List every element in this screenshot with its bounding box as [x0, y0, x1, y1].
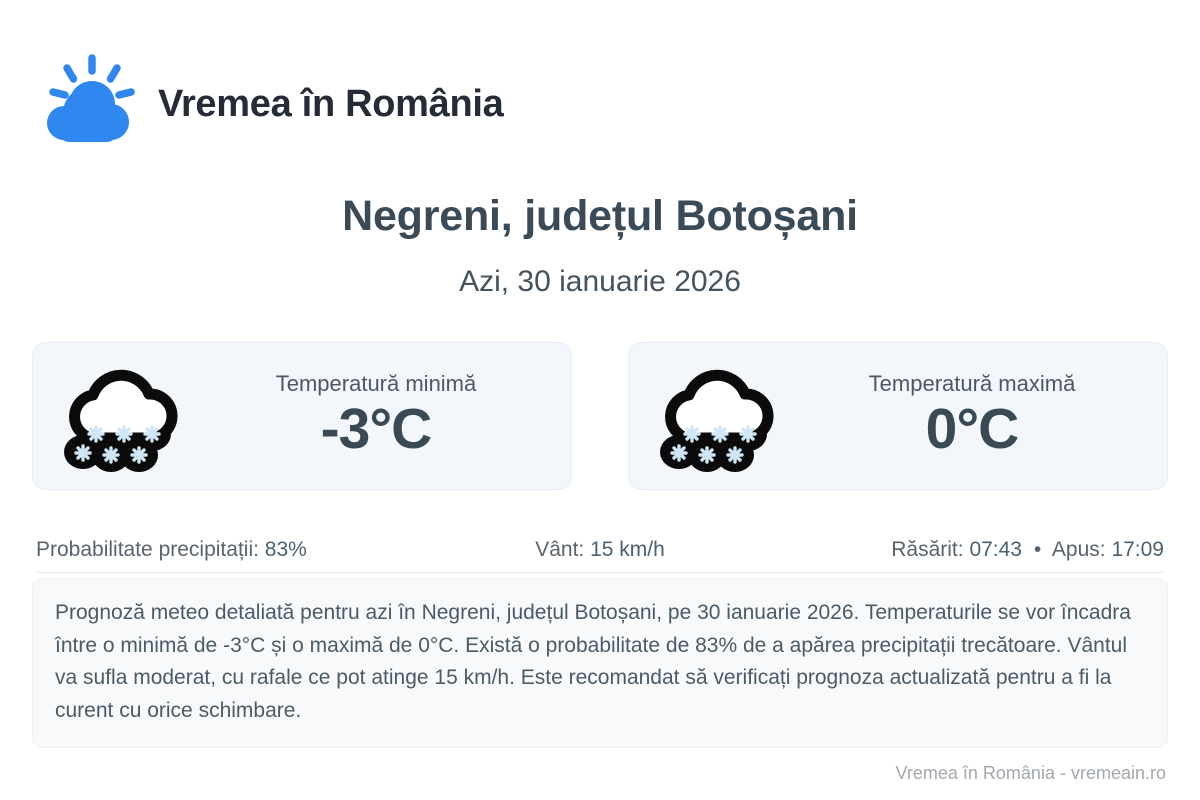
max-temperature-value: 0°C	[926, 399, 1019, 461]
sunrise-label: Răsărit:	[891, 538, 963, 561]
weather-page: Vremea în România Negreni, județul Botoș…	[0, 0, 1200, 800]
precipitation-label: Probabilitate precipitații:	[36, 538, 259, 561]
sun-cloud-icon	[36, 52, 140, 156]
wind-info: Vânt: 15 km/h	[412, 538, 788, 562]
max-temperature-body: Temperatură maximă 0°C	[795, 371, 1149, 461]
min-temperature-card: Temperatură minimă -3°C	[32, 342, 572, 490]
page-title: Negreni, județul Botoșani	[0, 192, 1200, 241]
sun-separator: •	[1028, 538, 1047, 561]
min-temperature-body: Temperatură minimă -3°C	[199, 371, 553, 461]
sunset-label: Apus:	[1052, 538, 1106, 561]
sunrise-value: 07:43	[969, 538, 1022, 561]
sunset-value: 17:09	[1111, 538, 1164, 561]
max-temperature-card: Temperatură maximă 0°C	[628, 342, 1168, 490]
precipitation-info: Probabilitate precipitații: 83%	[36, 538, 412, 562]
min-temperature-value: -3°C	[321, 399, 432, 461]
brand-name: Vremea în România	[158, 83, 504, 126]
weather-info-row: Probabilitate precipitații: 83% Vânt: 15…	[36, 538, 1164, 562]
precipitation-value: 83%	[265, 538, 307, 561]
snow-cloud-icon	[59, 360, 183, 472]
min-temperature-label: Temperatură minimă	[276, 371, 477, 397]
site-header: Vremea în România	[36, 52, 504, 156]
wind-value: 15 km/h	[590, 538, 665, 561]
temperature-cards: Temperatură minimă -3°C	[32, 342, 1168, 490]
section-divider	[36, 572, 1164, 573]
sun-info: Răsărit: 07:43 • Apus: 17:09	[788, 538, 1164, 562]
page-subtitle: Azi, 30 ianuarie 2026	[0, 265, 1200, 299]
footer-credit: Vremea în România - vremeain.ro	[896, 763, 1166, 784]
snow-cloud-icon	[655, 360, 779, 472]
forecast-description-text: Prognoză meteo detaliată pentru azi în N…	[55, 597, 1141, 727]
wind-label: Vânt:	[535, 538, 584, 561]
forecast-description-panel: Prognoză meteo detaliată pentru azi în N…	[32, 578, 1168, 748]
max-temperature-label: Temperatură maximă	[869, 371, 1076, 397]
